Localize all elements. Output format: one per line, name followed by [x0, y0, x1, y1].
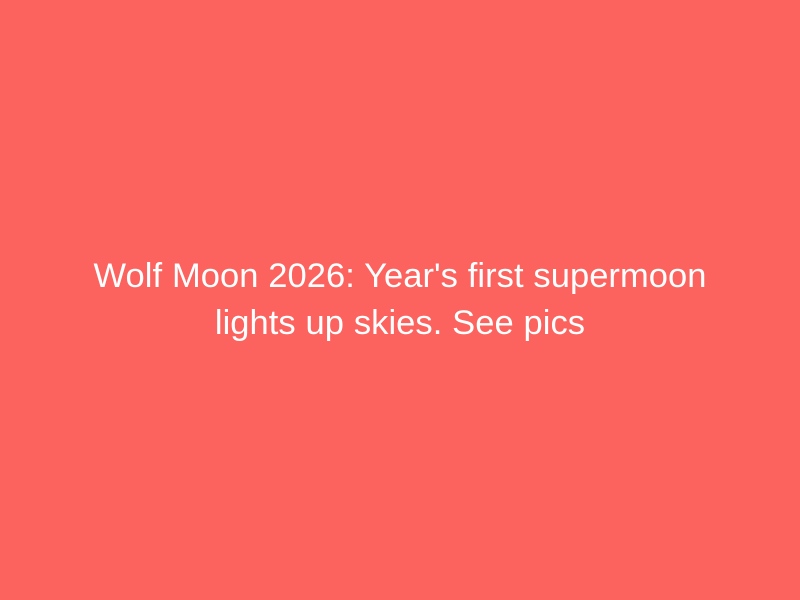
headline-block: Wolf Moon 2026: Year's first supermoon l… — [50, 253, 750, 347]
headline-title: Wolf Moon 2026: Year's first supermoon l… — [58, 253, 742, 347]
article-placeholder-card[interactable]: Wolf Moon 2026: Year's first supermoon l… — [0, 0, 800, 600]
